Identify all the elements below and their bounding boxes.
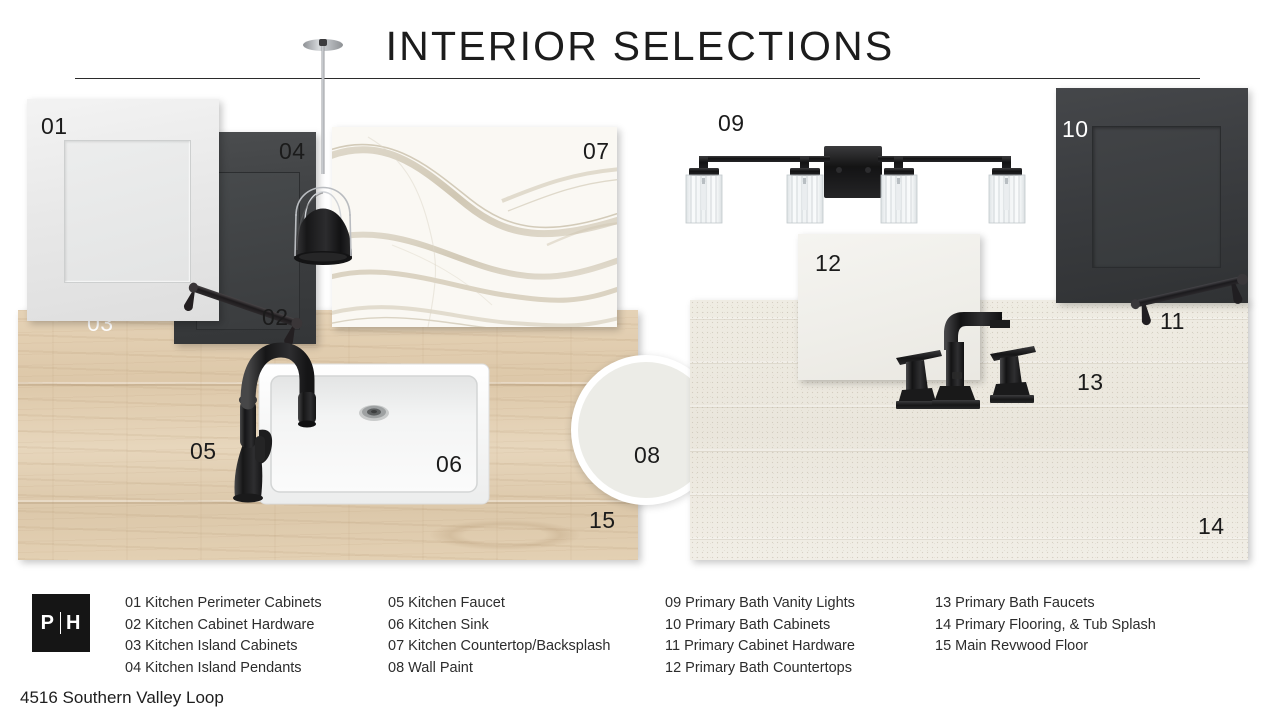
legend-item: 10 Primary Bath Cabinets [665, 615, 855, 637]
tag-06-kitchen-sink: 06 [436, 453, 463, 476]
vanity-light-swatch [672, 128, 1044, 228]
kitchen-faucet-swatch [215, 338, 325, 503]
tag-04-kitchen-island-pendants: 04 [279, 140, 306, 163]
selections-board: INTERIOR SELECTIONS 15 03 01 [0, 0, 1280, 720]
legend-item: 11 Primary Cabinet Hardware [665, 636, 855, 658]
tag-07-kitchen-countertop-backsplash: 07 [583, 140, 610, 163]
quartz-veining [332, 127, 617, 327]
legend-item: 12 Primary Bath Countertops [665, 658, 855, 680]
tag-15-main-revwood-floor: 15 [589, 509, 616, 532]
legend-item: 14 Primary Flooring, & Tub Splash [935, 615, 1156, 637]
legend-item: 07 Kitchen Countertop/Backsplash [388, 636, 610, 658]
legend-column-2: 05 Kitchen Faucet 06 Kitchen Sink 07 Kit… [388, 593, 610, 679]
legend-item: 13 Primary Bath Faucets [935, 593, 1156, 615]
bath-cabinet-hardware-swatch [1118, 252, 1263, 332]
cabinet-door-inset [1092, 126, 1221, 268]
legend-item: 08 Wall Paint [388, 658, 610, 680]
tag-11-primary-cabinet-hardware: 11 [1160, 310, 1185, 333]
tag-02-kitchen-cabinet-hardware: 02 [262, 306, 289, 329]
tag-01-kitchen-perimeter-cabinets: 01 [41, 115, 68, 138]
legend-column-3: 09 Primary Bath Vanity Lights 10 Primary… [665, 593, 855, 679]
header-divider [75, 78, 1200, 79]
kitchen-countertop-swatch [332, 127, 617, 327]
legend-item: 09 Primary Bath Vanity Lights [665, 593, 855, 615]
legend-item: 06 Kitchen Sink [388, 615, 610, 637]
tag-05-kitchen-faucet: 05 [190, 440, 217, 463]
project-address: 4516 Southern Valley Loop [20, 688, 224, 708]
legend-column-1: 01 Kitchen Perimeter Cabinets 02 Kitchen… [125, 593, 322, 679]
bath-faucet-swatch [880, 298, 1070, 418]
tag-10-primary-bath-cabinets: 10 [1062, 118, 1089, 141]
legend-item: 15 Main Revwood Floor [935, 636, 1156, 658]
legend-column-4: 13 Primary Bath Faucets 14 Primary Floor… [935, 593, 1156, 658]
legend-item: 04 Kitchen Island Pendants [125, 658, 322, 680]
tag-09-primary-bath-vanity-lights: 09 [718, 112, 745, 135]
tag-13-primary-bath-faucets: 13 [1077, 371, 1104, 394]
tag-08-wall-paint: 08 [634, 444, 661, 467]
legend-item: 03 Kitchen Island Cabinets [125, 636, 322, 658]
tag-12-primary-bath-countertops: 12 [815, 252, 842, 275]
legend-item: 05 Kitchen Faucet [388, 593, 610, 615]
legend: 01 Kitchen Perimeter Cabinets 02 Kitchen… [0, 593, 1280, 683]
page-title: INTERIOR SELECTIONS [0, 26, 1280, 67]
legend-item: 02 Kitchen Cabinet Hardware [125, 615, 322, 637]
legend-item: 01 Kitchen Perimeter Cabinets [125, 593, 322, 615]
wood-knot [430, 520, 580, 550]
tag-14-primary-flooring-tub-splash: 14 [1198, 515, 1225, 538]
